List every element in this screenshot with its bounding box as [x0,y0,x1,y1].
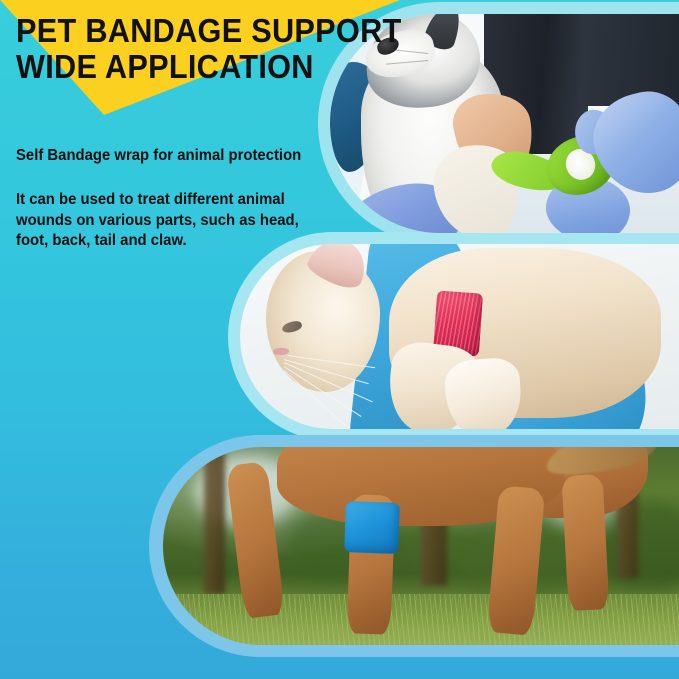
page-title: PET BANDAGE SUPPORT WIDE APPLICATION [16,14,431,83]
panel-3-blue-bandage [344,502,400,555]
description-block: Self Bandage wrap for animal protection … [16,146,326,252]
photo-panel-cat-red-bandage [240,244,679,429]
panel-1-dark-backdrop-2 [581,14,679,106]
photo-panel-dog-blue-bandage [163,447,679,645]
description-paragraph-1: Self Bandage wrap for animal protection [16,146,314,166]
product-feature-poster: PET BANDAGE SUPPORT WIDE APPLICATION Sel… [0,0,679,679]
panel-2-cat-paw-2 [444,356,524,429]
description-paragraph-2: It can be used to treat different animal… [16,190,314,251]
headline-line-1: PET BANDAGE SUPPORT [16,14,402,48]
panel-3-dog-leg [562,474,610,611]
headline-line-2: WIDE APPLICATION [16,50,402,84]
panel-3-tree-trunk [204,447,225,594]
